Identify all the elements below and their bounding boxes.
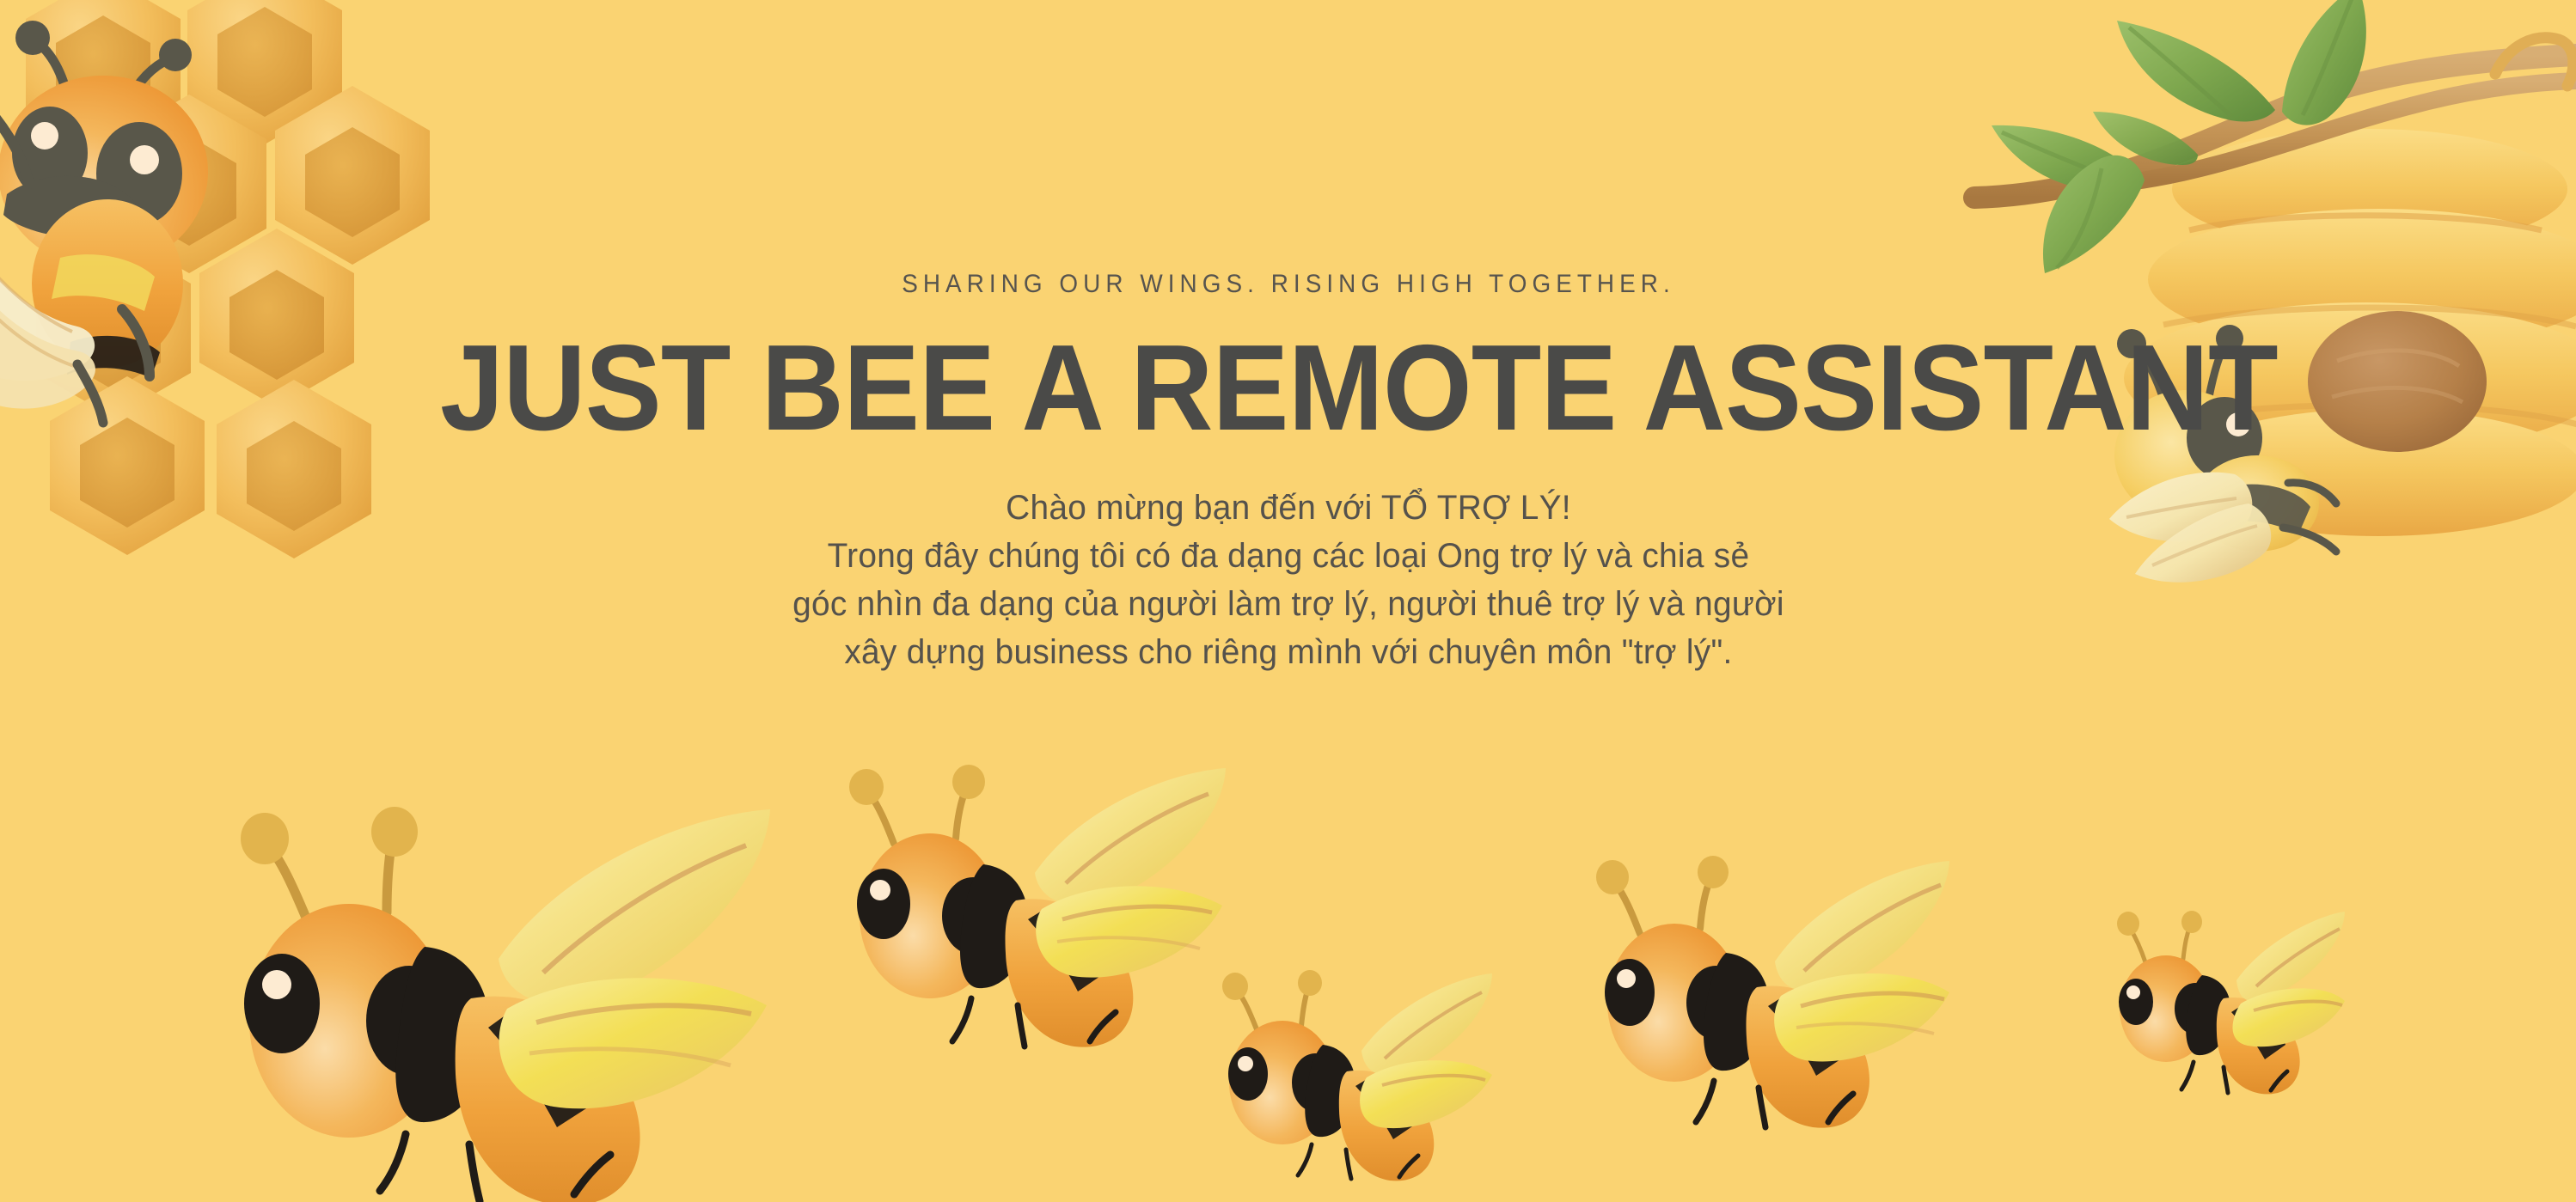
leafy-branch	[1871, 0, 2576, 266]
flying-bee-small	[1203, 962, 1496, 1186]
bee-antennae	[849, 765, 985, 844]
bee-wings	[1035, 768, 1226, 978]
banner-canvas: SHARING OUR WINGS. RISING HIGH TOGETHER.…	[0, 0, 2576, 1202]
bee-antennae	[2117, 911, 2202, 962]
honeycomb-bee	[0, 0, 352, 447]
body-line-1: Chào mừng bạn đến với TỔ TRỢ LÝ!	[413, 484, 2163, 532]
bee-wings	[1360, 973, 1492, 1128]
flying-bee-large	[196, 790, 798, 1202]
body-line-4: xây dựng business cho riêng mình với chu…	[413, 628, 2163, 676]
body-line-2: Trong đây chúng tôi có đa dạng các loại …	[413, 532, 2163, 580]
page-title: JUST BEE A REMOTE ASSISTANT	[440, 326, 2137, 451]
banner-text-block: SHARING OUR WINGS. RISING HIGH TOGETHER.…	[386, 272, 2191, 676]
bee-antennae	[241, 807, 418, 918]
tagline: SHARING OUR WINGS. RISING HIGH TOGETHER.	[449, 272, 2127, 297]
bee-antennae	[1596, 856, 1729, 934]
flying-bee-tiny	[2097, 902, 2347, 1100]
body-line-3: góc nhìn đa dạng của người làm trợ lý, n…	[413, 580, 2163, 628]
bee-wings	[1774, 861, 1949, 1061]
flying-bee-medium-right	[1573, 846, 1951, 1130]
flying-bee-medium	[825, 753, 1229, 1053]
bee-wings	[2232, 912, 2345, 1046]
body-copy: Chào mừng bạn đến với TỔ TRỢ LÝ! Trong đ…	[413, 484, 2163, 676]
bee-antennae	[1222, 970, 1322, 1029]
bee-wings	[499, 809, 770, 1108]
